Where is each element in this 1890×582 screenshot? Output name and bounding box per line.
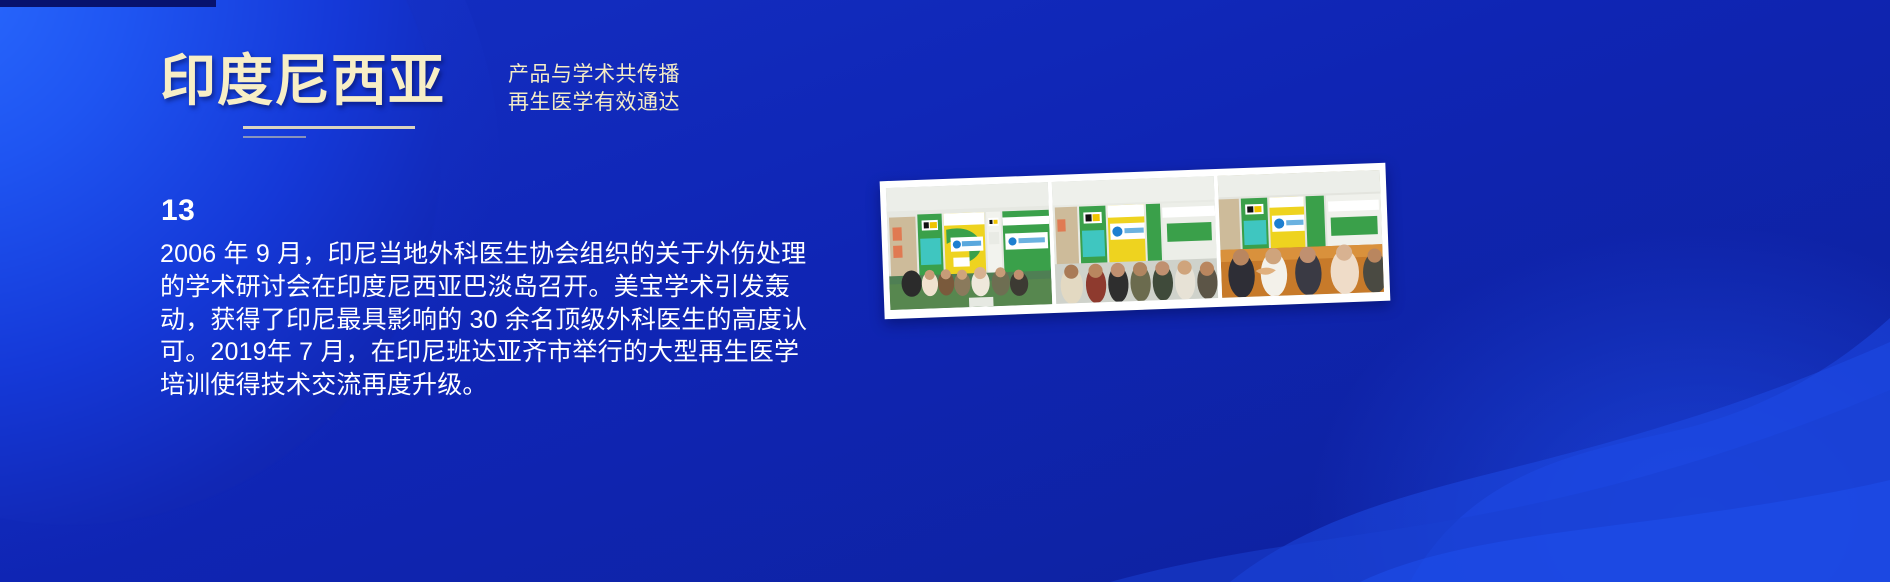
photo-booth-standing-group (1052, 176, 1218, 304)
title-underline-short (243, 136, 306, 138)
paragraph-line: 可。2019年 7 月，在印尼班达亚齐市举行的大型再生医学 (160, 336, 860, 369)
photo-collage (880, 163, 1391, 319)
body-paragraph: 2006 年 9 月，印尼当地外科医生协会组织的关于外伤处理 的学术研讨会在印度… (160, 238, 860, 402)
photo-booth-seated-group (886, 182, 1052, 310)
subtitle-line-1: 产品与学术共传播 (508, 61, 680, 89)
subtitle: 产品与学术共传播 再生医学有效通达 (508, 61, 680, 116)
sequence-number: 13 (161, 196, 195, 226)
paragraph-line: 2006 年 9 月，印尼当地外科医生协会组织的关于外伤处理 (160, 238, 860, 271)
subtitle-line-2: 再生医学有效通达 (508, 89, 680, 117)
paragraph-line: 的学术研讨会在印度尼西亚巴淡岛召开。美宝学术引发轰 (160, 271, 860, 304)
slide-canvas: 印度尼西亚 产品与学术共传播 再生医学有效通达 13 2006 年 9 月，印尼… (0, 0, 1890, 582)
paragraph-line: 动，获得了印尼最具影响的 30 余名顶级外科医生的高度认 (160, 304, 860, 337)
page-title: 印度尼西亚 (160, 53, 445, 109)
photo-booth-handshake (1218, 170, 1384, 298)
top-left-bar (0, 0, 216, 7)
paragraph-line: 培训使得技术交流再度升级。 (160, 369, 860, 402)
title-underline (243, 126, 415, 129)
